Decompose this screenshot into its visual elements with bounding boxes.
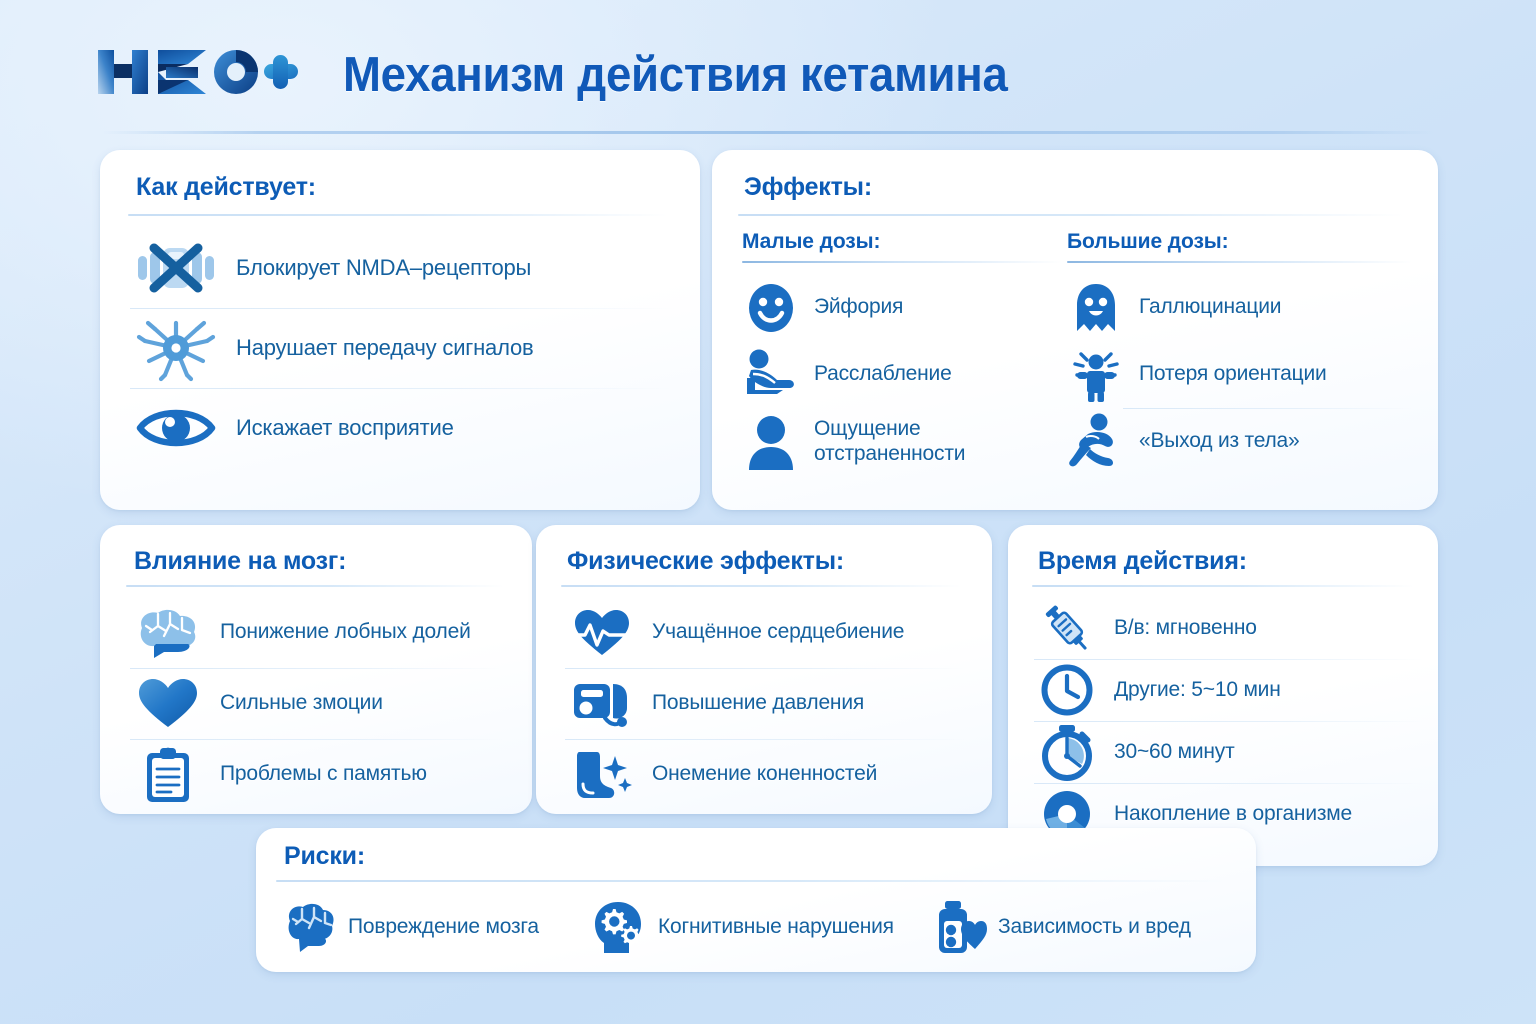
card-how-it-works: Как действует: [100, 150, 700, 510]
list-item-label: Повышение давления [652, 691, 864, 715]
low-dose-items: Эйфория Расслабление [742, 274, 1062, 475]
infographic-page: Механизм действия кетамина Как действует… [0, 0, 1536, 1024]
brain-items-list: Понижение лобных долей Сильные змоции [130, 597, 515, 810]
list-item-label: Нарушает передачу сигналов [236, 335, 534, 361]
list-item[interactable]: Учащённое сердцебиение [565, 597, 975, 668]
list-item[interactable]: Расслабление [742, 341, 1062, 408]
effects-column-high-dose: Большие дозы: Галлюцинации [1067, 230, 1412, 475]
pill-bottle-icon [930, 899, 988, 955]
list-item[interactable]: Повышение давления [565, 668, 975, 739]
smiley-face-icon [742, 279, 800, 337]
card-risks-title-divider [276, 880, 1231, 882]
nmda-receptor-blocked-icon [130, 235, 222, 301]
list-item-label: Зависимость и вред [998, 915, 1191, 939]
list-item[interactable]: Другие: 5~10 мин [1034, 659, 1426, 721]
ghost-icon [1067, 279, 1125, 337]
row-divider [565, 739, 965, 740]
card-risks-title: Риски: [284, 842, 365, 871]
list-item-label: Учащённое сердцебиение [652, 620, 904, 644]
list-item-label: Ощущение отстраненности [814, 417, 965, 466]
list-item[interactable]: Когнитивные нарушения [590, 899, 930, 955]
card-physical-title-divider [561, 585, 961, 587]
row-divider [130, 668, 502, 669]
physical-items-list: Учащённое сердцебиение Повышение давлени… [565, 597, 975, 810]
card-physical-effects: Физические эффекты: Учащённое сердцебиен… [536, 525, 992, 814]
card-duration: Время действия: [1008, 525, 1438, 866]
list-item[interactable]: Понижение лобных долей [130, 597, 515, 668]
risks-items-list: Повреждение мозга [280, 890, 1232, 964]
card-brain-title-divider [126, 585, 504, 587]
row-divider [1123, 408, 1412, 409]
list-item[interactable]: «Выход из тела» [1067, 408, 1412, 475]
list-item-label: Накопление в организме [1114, 802, 1352, 826]
clipboard-icon [130, 747, 206, 803]
stopwatch-icon [1034, 725, 1100, 779]
list-item[interactable]: Потеря ориентации [1067, 341, 1412, 408]
brain-damage-icon [280, 899, 338, 955]
card-timing-title: Время действия: [1038, 547, 1247, 576]
list-item[interactable]: В/в: мгновенно [1034, 597, 1426, 659]
list-item[interactable]: Искажает восприятие [130, 388, 675, 468]
card-physical-title: Физические эффекты: [567, 547, 844, 576]
list-item[interactable]: 30~60 минут [1034, 721, 1426, 783]
row-divider [130, 388, 675, 389]
high-dose-subtitle: Большие дозы: [1067, 230, 1412, 254]
row-divider [130, 308, 675, 309]
list-item[interactable]: Сильные змоции [130, 668, 515, 739]
blood-pressure-monitor-icon [565, 676, 638, 732]
list-item-label: Онемение коненностей [652, 762, 877, 786]
reclining-person-icon [742, 346, 800, 404]
list-item-label: Когнитивные нарушения [658, 915, 894, 939]
list-item-label: Сильные змоции [220, 691, 383, 715]
head-gears-icon [590, 899, 648, 955]
list-item-label: В/в: мгновенно [1114, 616, 1257, 640]
how-items-list: Блокирует NMDA–рецепторы [130, 228, 675, 468]
card-effects: Эффекты: Малые дозы: Эйфория [712, 150, 1438, 510]
list-item-label: Понижение лобных долей [220, 620, 471, 644]
header: Механизм действия кетамина [0, 0, 1536, 140]
list-item[interactable]: Ощущение отстраненности [742, 408, 1062, 475]
page-title: Механизм действия кетамина [343, 47, 1008, 103]
list-item-label: Расслабление [814, 362, 952, 386]
list-item[interactable]: Проблемы с памятью [130, 739, 515, 810]
floating-body-icon [1067, 413, 1125, 471]
row-divider [565, 668, 965, 669]
list-item[interactable]: Эйфория [742, 274, 1062, 341]
person-silhouette-icon [742, 413, 800, 471]
card-risks: Риски: Повреждение мо [256, 828, 1256, 972]
clock-icon [1034, 663, 1100, 717]
card-how-title: Как действует: [136, 173, 316, 202]
list-item-label: Проблемы с памятью [220, 762, 427, 786]
list-item[interactable]: Блокирует NMDA–рецепторы [130, 228, 675, 308]
list-item[interactable]: Онемение коненностей [565, 739, 975, 810]
timing-items-list: В/в: мгновенно Другие: 5~10 мин [1034, 597, 1426, 845]
card-how-title-divider [128, 214, 668, 216]
eye-icon [130, 395, 222, 461]
list-item[interactable]: Нарушает передачу сигналов [130, 308, 675, 388]
row-divider [1034, 659, 1424, 660]
list-item-label: «Выход из тела» [1139, 429, 1300, 453]
card-effects-title-divider [738, 214, 1404, 216]
card-brain-impact: Влияние на мозг: Пониж [100, 525, 532, 814]
neo-plus-logo-icon [96, 44, 296, 100]
effects-column-low-dose: Малые дозы: Эйфория [742, 230, 1062, 475]
list-item-label: Искажает восприятие [236, 415, 454, 441]
numb-foot-icon [565, 747, 638, 803]
syringe-icon [1034, 601, 1100, 655]
list-item-label: Блокирует NMDA–рецепторы [236, 255, 531, 281]
list-item[interactable]: Галлюцинации [1067, 274, 1412, 341]
neo-plus-logo [96, 44, 296, 100]
row-divider [130, 739, 502, 740]
list-item-label: Повреждение мозга [348, 915, 539, 939]
list-item[interactable]: Повреждение мозга [280, 899, 590, 955]
list-item-label: 30~60 минут [1114, 740, 1235, 764]
list-item-label-text: Ощущение отстраненности [814, 417, 965, 464]
list-item-label: Другие: 5~10 мин [1114, 678, 1281, 702]
list-item-label: Эйфория [814, 295, 903, 319]
brain-icon [130, 605, 206, 661]
row-divider [1034, 783, 1424, 784]
list-item-label: Потеря ориентации [1139, 362, 1327, 386]
neuron-icon [130, 315, 222, 381]
heart-pulse-icon [565, 605, 638, 661]
card-timing-title-divider [1032, 585, 1414, 587]
low-dose-divider [742, 261, 1062, 263]
card-brain-title: Влияние на мозг: [134, 547, 346, 576]
list-item[interactable]: Зависимость и вред [930, 899, 1230, 955]
card-effects-title: Эффекты: [744, 173, 872, 202]
heart-icon [130, 676, 206, 732]
row-divider [1034, 721, 1424, 722]
high-dose-divider [1067, 261, 1412, 263]
dizzy-person-icon [1067, 346, 1125, 404]
list-item-label: Галлюцинации [1139, 295, 1281, 319]
high-dose-items: Галлюцинации [1067, 274, 1412, 475]
low-dose-subtitle: Малые дозы: [742, 230, 1062, 254]
header-divider [100, 131, 1436, 134]
